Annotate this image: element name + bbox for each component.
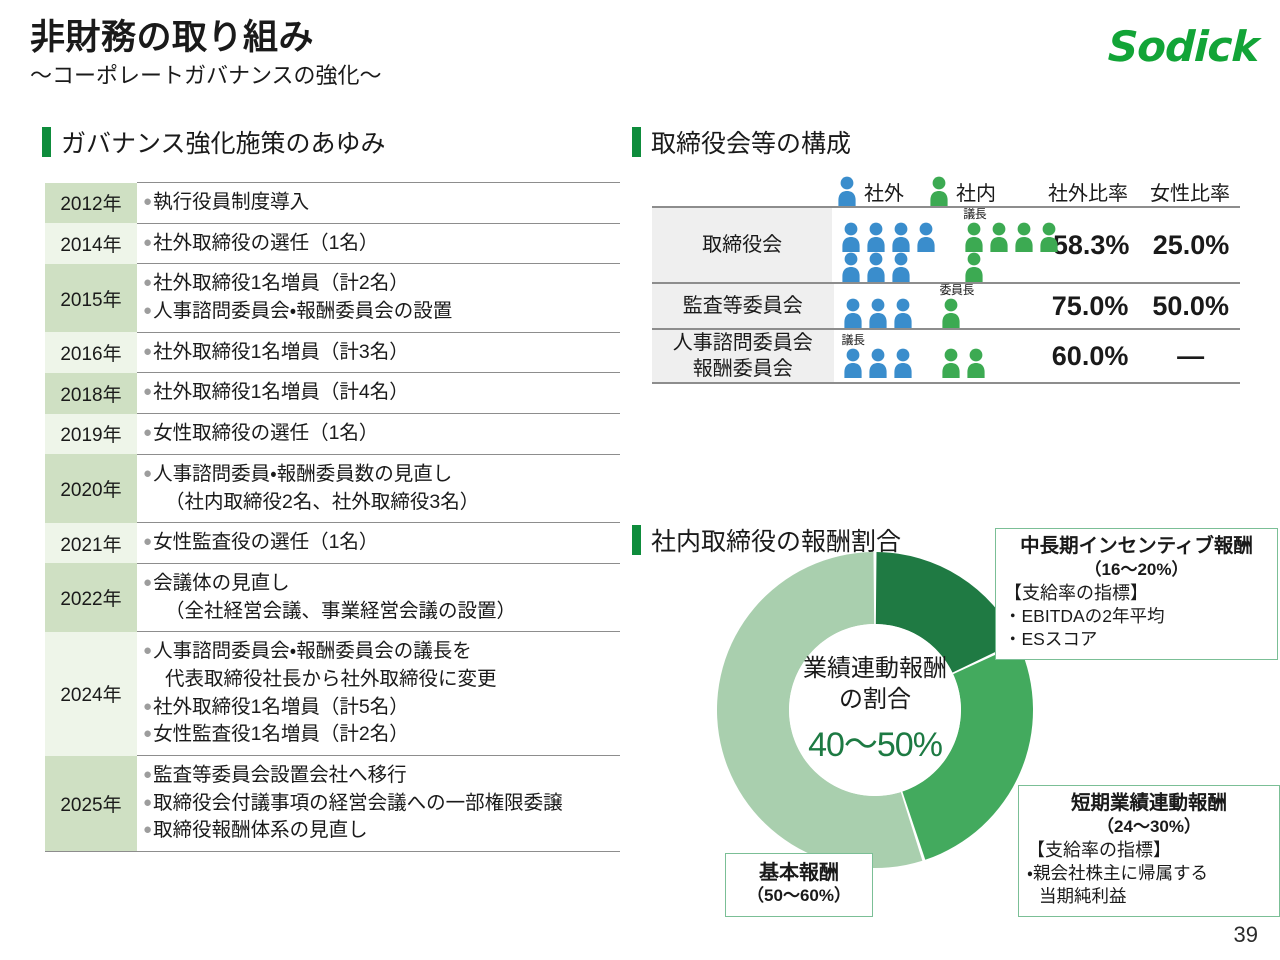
bullet-dot-icon: ●: [143, 698, 152, 715]
timeline-items: ●女性監査役の選任（1名）: [137, 523, 620, 564]
timeline-items: ●人事諮問委員会・報酬委員会の議長を代表取締役社長から社外取締役に変更●社外取締…: [137, 632, 620, 756]
callout-short-term-incentive: 短期業績連動報酬 （24～30%） 【支給率の指標】 ・親会社株主に帰属する 当…: [1018, 785, 1280, 917]
person-icon-external: [836, 176, 858, 206]
composition-header-row: 社外 社内 社外比率 女性比率: [652, 172, 1240, 206]
callout-sti-title: 短期業績連動報酬: [1027, 792, 1271, 816]
timeline-item: ●人事諮問委員会・報酬委員会の議長を: [143, 638, 616, 666]
timeline-item: ●会議体の見直し: [143, 570, 616, 598]
timeline-item: ●人事諮問委員・報酬委員数の見直し: [143, 461, 616, 489]
composition-female-ratio: 25.0%: [1142, 208, 1240, 282]
composition-female-ratio: —: [1141, 330, 1240, 382]
person-icon-external: [842, 348, 864, 378]
person-icon-external: [915, 222, 937, 252]
composition-row-label: 監査等委員会: [683, 293, 803, 319]
callout-long-term-incentive: 中長期インセンティブ報酬 （16～20%） 【支給率の指標】 ・EBITDAの2…: [995, 528, 1278, 660]
governance-timeline-table: 2012年●執行役員制度導入2014年●社外取締役の選任（1名）2015年●社外…: [45, 182, 620, 852]
composition-row: 人事諮問委員会報酬委員会議長60.0%—: [652, 328, 1240, 384]
callout-sti-range: （24～30%）: [1027, 816, 1271, 837]
timeline-items: ●社外取締役1名増員（計2名）●人事諮問委員会・報酬委員会の設置: [137, 264, 620, 332]
bullet-dot-icon: ●: [143, 574, 152, 591]
callout-sti-item-1: 当期純利益: [1027, 885, 1271, 908]
composition-header-internal-label: 社内: [956, 177, 996, 206]
composition-row: 監査等委員会委員長75.0%50.0%: [652, 282, 1240, 328]
person-icon-internal: [940, 348, 962, 378]
person-icon-internal: [963, 252, 985, 282]
page-subtitle: ～コーポレートガバナンスの強化～: [30, 58, 382, 90]
timeline-items: ●社外取締役1名増員（計4名）: [137, 373, 620, 414]
person-icon-external: [840, 222, 862, 252]
composition-header-external-label: 社外: [864, 177, 904, 206]
callout-lti-range: （16～20%）: [1004, 559, 1269, 580]
person-icon-external: [892, 298, 914, 328]
composition-header-external-ratio: 社外比率: [1036, 177, 1140, 206]
figure-group: [842, 284, 914, 328]
section-heading-timeline: ガバナンス強化施策のあゆみ: [42, 124, 386, 160]
composition-figures-cell: 議長: [832, 208, 1040, 282]
bullet-dot-icon: ●: [143, 193, 152, 210]
composition-row: 取締役会議長58.3%25.0%: [652, 206, 1240, 282]
figures-wrapper: 議長: [840, 208, 1060, 282]
composition-figures-cell: 議長: [834, 330, 1039, 382]
timeline-item: （社内取締役2名、社外取締役3名）: [143, 489, 616, 517]
bullet-dot-icon: ●: [143, 343, 152, 360]
timeline-year: 2015年: [45, 264, 137, 332]
person-icon-external: [840, 252, 862, 282]
sodick-logo: Sodick: [1107, 22, 1259, 71]
callout-base-title: 基本報酬: [732, 861, 866, 885]
timeline-item: ●執行役員制度導入: [143, 189, 616, 217]
bullet-dot-icon: ●: [143, 424, 152, 441]
callout-lti-title: 中長期インセンティブ報酬: [1004, 535, 1269, 559]
composition-row-label: 人事諮問委員会報酬委員会: [673, 330, 813, 382]
person-icon-internal: [940, 298, 962, 328]
person-icon-external: [890, 222, 912, 252]
person-icon-internal: [988, 222, 1010, 252]
person-icon-external: [867, 298, 889, 328]
timeline-year: 2022年: [45, 563, 137, 631]
person-icon-external: [865, 222, 887, 252]
figure-group: 議長: [963, 208, 1060, 282]
bullet-dot-icon: ●: [143, 302, 152, 319]
timeline-items: ●社外取締役の選任（1名）: [137, 223, 620, 264]
composition-row-label: 取締役会: [702, 232, 782, 258]
bullet-dot-icon: ●: [143, 821, 152, 838]
timeline-row: 2016年●社外取締役1名増員（計3名）: [45, 332, 620, 373]
timeline-year: 2024年: [45, 632, 137, 756]
composition-label-cell: 人事諮問委員会報酬委員会: [652, 330, 834, 382]
composition-female-ratio: 50.0%: [1141, 284, 1240, 328]
timeline-year: 2014年: [45, 223, 137, 264]
timeline-item: ●女性取締役の選任（1名）: [143, 420, 616, 448]
timeline-items: ●会議体の見直し（全社経営会議、事業経営会議の設置）: [137, 563, 620, 631]
bullet-dot-icon: ●: [143, 794, 152, 811]
callout-lti-item-0: ・EBITDAの2年平均: [1004, 605, 1269, 628]
bullet-dot-icon: ●: [143, 642, 152, 659]
composition-header-internal: 社内: [928, 176, 1036, 206]
timeline-item: （全社経営会議、事業経営会議の設置）: [143, 598, 616, 626]
timeline-item: ●社外取締役1名増員（計2名）: [143, 270, 616, 298]
figure-row: [963, 252, 1060, 282]
figure-row: [840, 252, 937, 282]
timeline-row: 2014年●社外取締役の選任（1名）: [45, 223, 620, 264]
bullet-dot-icon: ●: [143, 274, 152, 291]
timeline-row: 2012年●執行役員制度導入: [45, 183, 620, 224]
timeline-row: 2018年●社外取締役1名増員（計4名）: [45, 373, 620, 414]
figure-row: [940, 348, 987, 378]
person-icon-internal: [1013, 222, 1035, 252]
timeline-row: 2019年●女性取締役の選任（1名）: [45, 414, 620, 455]
person-icon-internal: [1038, 222, 1060, 252]
figures-wrapper: 委員長: [842, 284, 975, 328]
figure-group: [840, 208, 937, 282]
person-icon-external: [892, 348, 914, 378]
figure-stack: [940, 348, 987, 378]
figure-row: [963, 222, 1060, 252]
bullet-dot-icon: ●: [143, 533, 152, 550]
person-icon-internal: [965, 348, 987, 378]
timeline-items: ●社外取締役1名増員（計3名）: [137, 332, 620, 373]
board-composition-table: 社外 社内 社外比率 女性比率 取締役会議長58.3%25.0%監査等委員会委員…: [652, 172, 1240, 384]
slide-root: 非財務の取り組み ～コーポレートガバナンスの強化～ Sodick 39 ガバナン…: [0, 0, 1280, 960]
chair-label: 議長: [842, 334, 865, 347]
composition-external-ratio: 60.0%: [1039, 330, 1142, 382]
timeline-item: ●監査等委員会設置会社へ移行: [143, 762, 616, 790]
callout-base-remuneration: 基本報酬 （50～60%）: [725, 853, 873, 917]
figure-stack: [842, 348, 914, 378]
timeline-items: ●執行役員制度導入: [137, 183, 620, 224]
figure-row: [842, 298, 914, 328]
timeline-year: 2018年: [45, 373, 137, 414]
figure-row: [840, 222, 937, 252]
remuneration-donut-chart: [715, 550, 1035, 870]
section-heading-timeline-label: ガバナンス強化施策のあゆみ: [61, 124, 386, 160]
timeline-row: 2015年●社外取締役1名増員（計2名）●人事諮問委員会・報酬委員会の設置: [45, 264, 620, 332]
figure-row: [842, 348, 914, 378]
timeline-item: ●取締役報酬体系の見直し: [143, 817, 616, 845]
bullet-dot-icon: ●: [143, 465, 152, 482]
bullet-dot-icon: ●: [143, 766, 152, 783]
chair-label: 委員長: [940, 284, 975, 297]
timeline-item: 代表取締役社長から社外取締役に変更: [143, 666, 616, 694]
figure-row: [940, 298, 962, 328]
timeline-year: 2025年: [45, 756, 137, 852]
composition-header-external: 社外: [836, 176, 928, 206]
callout-lti-sub: 【支給率の指標】: [1004, 582, 1269, 605]
callout-lti-item-1: ・ESスコア: [1004, 628, 1269, 651]
composition-label-cell: 取締役会: [652, 208, 832, 282]
section-heading-composition: 取締役会等の構成: [632, 124, 851, 160]
timeline-item: ●取締役会付議事項の経営会議への一部権限委譲: [143, 790, 616, 818]
timeline-item: ●女性監査役1名増員（計2名）: [143, 721, 616, 749]
callout-sti-sub: 【支給率の指標】: [1027, 839, 1271, 862]
timeline-year: 2019年: [45, 414, 137, 455]
callout-sti-item-0: ・親会社株主に帰属する: [1027, 862, 1271, 885]
figure-stack: [940, 298, 962, 328]
figure-stack: [963, 222, 1060, 282]
chair-label: 議長: [963, 208, 986, 221]
timeline-item: ●社外取締役1名増員（計4名）: [143, 379, 616, 407]
composition-external-ratio: 75.0%: [1039, 284, 1142, 328]
timeline-year: 2016年: [45, 332, 137, 373]
timeline-row: 2025年●監査等委員会設置会社へ移行●取締役会付議事項の経営会議への一部権限委…: [45, 756, 620, 852]
figure-stack: [842, 298, 914, 328]
bullet-dot-icon: ●: [143, 234, 152, 251]
figure-group: [940, 334, 987, 378]
composition-header-female-ratio: 女性比率: [1140, 177, 1240, 206]
bullet-dot-icon: ●: [143, 383, 152, 400]
timeline-item: ●社外取締役1名増員（計3名）: [143, 339, 616, 367]
callout-base-range: （50～60%）: [732, 885, 866, 906]
timeline-items: ●監査等委員会設置会社へ移行●取締役会付議事項の経営会議への一部権限委譲●取締役…: [137, 756, 620, 852]
figures-wrapper: 議長: [842, 334, 987, 378]
timeline-row: 2024年●人事諮問委員会・報酬委員会の議長を代表取締役社長から社外取締役に変更…: [45, 632, 620, 756]
person-icon-external: [890, 252, 912, 282]
accent-bar-icon: [42, 127, 51, 157]
person-icon-external: [842, 298, 864, 328]
figure-group: 委員長: [940, 284, 975, 328]
timeline-item: ●社外取締役の選任（1名）: [143, 230, 616, 258]
timeline-year: 2012年: [45, 183, 137, 224]
timeline-items: ●人事諮問委員・報酬委員数の見直し（社内取締役2名、社外取締役3名）: [137, 454, 620, 522]
timeline-items: ●女性取締役の選任（1名）: [137, 414, 620, 455]
timeline-year: 2021年: [45, 523, 137, 564]
person-icon-external: [865, 252, 887, 282]
composition-label-cell: 監査等委員会: [652, 284, 834, 328]
accent-bar-icon: [632, 127, 641, 157]
person-icon-external: [867, 348, 889, 378]
bullet-dot-icon: ●: [143, 725, 152, 742]
timeline-row: 2021年●女性監査役の選任（1名）: [45, 523, 620, 564]
remuneration-donut-area: 業績連動報酬 の割合 40～50% 中長期インセンティブ報酬 （16～20%） …: [640, 520, 1280, 950]
person-icon-internal: [928, 176, 950, 206]
timeline-row: 2020年●人事諮問委員・報酬委員数の見直し（社内取締役2名、社外取締役3名）: [45, 454, 620, 522]
timeline-item: ●女性監査役の選任（1名）: [143, 529, 616, 557]
section-heading-composition-label: 取締役会等の構成: [651, 124, 851, 160]
page-title: 非財務の取り組み: [30, 18, 314, 58]
composition-figures-cell: 委員長: [834, 284, 1039, 328]
figure-stack: [840, 222, 937, 282]
timeline-item: ●社外取締役1名増員（計5名）: [143, 694, 616, 722]
timeline-row: 2022年●会議体の見直し（全社経営会議、事業経営会議の設置）: [45, 563, 620, 631]
timeline-item: ●人事諮問委員会・報酬委員会の設置: [143, 298, 616, 326]
person-icon-internal: [963, 222, 985, 252]
figure-group: 議長: [842, 334, 914, 378]
timeline-year: 2020年: [45, 454, 137, 522]
